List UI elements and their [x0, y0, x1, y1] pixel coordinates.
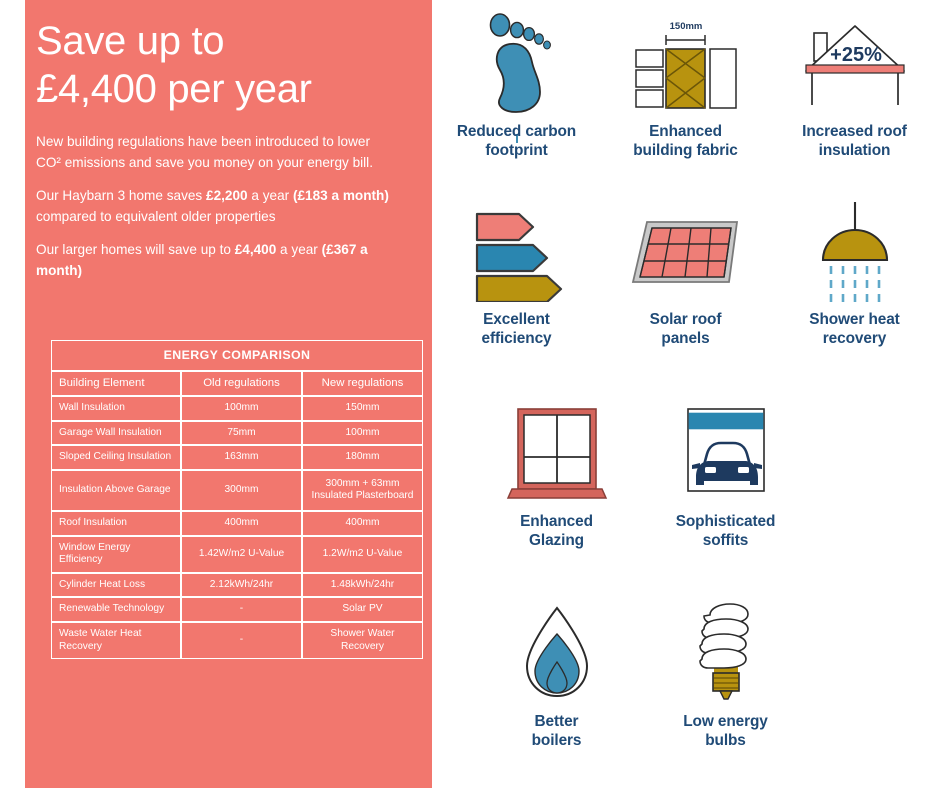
- row-element: Sloped Ceiling Insulation: [51, 445, 181, 470]
- table-row: Garage Wall Insulation 75mm 100mm: [51, 421, 423, 446]
- feature-label: Low energy bulbs: [683, 712, 768, 750]
- intro-paragraph-3: Our larger homes will save up to £4,400 …: [36, 240, 391, 281]
- row-new-value: 100mm: [302, 421, 423, 446]
- feature-label: Solar roof panels: [650, 310, 722, 348]
- row-element: Waste Water Heat Recovery: [51, 622, 181, 659]
- headline-line-2: £4,400 per year: [36, 65, 421, 113]
- row-element: Roof Insulation: [51, 511, 181, 536]
- row-element: Wall Insulation: [51, 396, 181, 421]
- row-old-value: 163mm: [181, 445, 302, 470]
- feature-low-energy-bulbs: Low energy bulbs: [641, 598, 810, 750]
- row-new-value: 400mm: [302, 511, 423, 536]
- row-old-value: 100mm: [181, 396, 302, 421]
- row-new-value: Shower Water Recovery: [302, 622, 423, 659]
- feature-label: Better boilers: [532, 712, 582, 750]
- solar-panel-icon: [625, 196, 747, 304]
- cfl-bulb-icon: [680, 598, 772, 706]
- footprint-icon: [474, 8, 560, 116]
- table-row: Roof Insulation 400mm 400mm: [51, 511, 423, 536]
- row-old-value: 75mm: [181, 421, 302, 446]
- feature-label: Shower heat recovery: [809, 310, 899, 348]
- garage-car-icon: [674, 398, 778, 506]
- table-title: ENERGY COMPARISON: [51, 340, 423, 371]
- row-old-value: 1.42W/m2 U-Value: [181, 536, 302, 573]
- feature-label: Reduced carbon footprint: [457, 122, 576, 160]
- efficiency-arrows-icon: [461, 196, 573, 304]
- window-icon: [502, 398, 612, 506]
- row-element: Insulation Above Garage: [51, 470, 181, 511]
- left-coral-panel: Save up to £4,400 per year New building …: [25, 0, 432, 788]
- column-header-new: New regulations: [302, 371, 423, 397]
- feature-row-4: Better boilers: [472, 598, 940, 750]
- row-element: Garage Wall Insulation: [51, 421, 181, 446]
- intro-paragraph-2: Our Haybarn 3 home saves £2,200 a year (…: [36, 186, 391, 227]
- feature-label: Enhanced building fabric: [633, 122, 738, 160]
- feature-row-1: Reduced carbon footprint 150mm: [432, 8, 940, 160]
- feature-label: Sophisticated soffits: [676, 512, 776, 550]
- table-row: Window Energy Efficiency 1.42W/m2 U-Valu…: [51, 536, 423, 573]
- feature-increased-roof-insulation: +25% Increased roof insulation: [770, 8, 939, 160]
- row-new-value: 1.2W/m2 U-Value: [302, 536, 423, 573]
- row-new-value: 180mm: [302, 445, 423, 470]
- feature-enhanced-glazing: Enhanced Glazing: [472, 398, 641, 550]
- table-row: Sloped Ceiling Insulation 163mm 180mm: [51, 445, 423, 470]
- feature-reduced-carbon-footprint: Reduced carbon footprint: [432, 8, 601, 160]
- table-body: ENERGY COMPARISON Building Element Old r…: [51, 340, 423, 659]
- table-row: Wall Insulation 100mm 150mm: [51, 396, 423, 421]
- fabric-dimension-text: 150mm: [669, 21, 702, 32]
- feature-enhanced-building-fabric: 150mm Enhanced building fabric: [601, 8, 770, 160]
- row-new-value: 300mm + 63mm Insulated Plasterboard: [302, 470, 423, 511]
- feature-label: Enhanced Glazing: [520, 512, 593, 550]
- table-row: Cylinder Heat Loss 2.12kWh/24hr 1.48kWh/…: [51, 573, 423, 598]
- feature-better-boilers: Better boilers: [472, 598, 641, 750]
- feature-shower-heat-recovery: Shower heat recovery: [770, 196, 939, 348]
- row-old-value: -: [181, 597, 302, 622]
- roof-percentage-text: +25%: [830, 44, 882, 66]
- table-row: Insulation Above Garage 300mm 300mm + 63…: [51, 470, 423, 511]
- row-element: Window Energy Efficiency: [51, 536, 181, 573]
- row-element: Renewable Technology: [51, 597, 181, 622]
- flame-droplet-icon: [507, 598, 607, 706]
- feature-label: Increased roof insulation: [802, 122, 907, 160]
- row-new-value: 150mm: [302, 396, 423, 421]
- intro-paragraph-1: New building regulations have been intro…: [36, 132, 391, 173]
- infographic-page: Save up to £4,400 per year New building …: [0, 0, 940, 788]
- column-header-old: Old regulations: [181, 371, 302, 397]
- table-row: Waste Water Heat Recovery - Shower Water…: [51, 622, 423, 659]
- feature-label: Excellent efficiency: [481, 310, 551, 348]
- feature-icon-grid: Reduced carbon footprint 150mm: [432, 0, 940, 788]
- headline-line-1: Save up to: [36, 17, 421, 65]
- row-new-value: Solar PV: [302, 597, 423, 622]
- table-title-row: ENERGY COMPARISON: [51, 340, 423, 371]
- table-header-row: Building Element Old regulations New reg…: [51, 371, 423, 397]
- feature-row-2: Excellent efficiency Solar roof panels: [432, 196, 940, 348]
- feature-excellent-efficiency: Excellent efficiency: [432, 196, 601, 348]
- feature-sophisticated-soffits: Sophisticated soffits: [641, 398, 810, 550]
- column-header-element: Building Element: [51, 371, 181, 397]
- row-new-value: 1.48kWh/24hr: [302, 573, 423, 598]
- row-element: Cylinder Heat Loss: [51, 573, 181, 598]
- row-old-value: 400mm: [181, 511, 302, 536]
- wall-cross-section-icon: 150mm: [626, 8, 746, 116]
- roof-insulation-icon: +25%: [790, 8, 920, 116]
- intro-paragraphs: New building regulations have been intro…: [36, 132, 391, 294]
- feature-row-3: Enhanced Glazing Sophisticated so: [472, 398, 940, 550]
- row-old-value: 300mm: [181, 470, 302, 511]
- energy-comparison-table: ENERGY COMPARISON Building Element Old r…: [51, 340, 423, 659]
- shower-head-icon: [803, 196, 907, 304]
- row-old-value: 2.12kWh/24hr: [181, 573, 302, 598]
- page-title: Save up to £4,400 per year: [36, 17, 421, 113]
- feature-solar-roof-panels: Solar roof panels: [601, 196, 770, 348]
- table-row: Renewable Technology - Solar PV: [51, 597, 423, 622]
- row-old-value: -: [181, 622, 302, 659]
